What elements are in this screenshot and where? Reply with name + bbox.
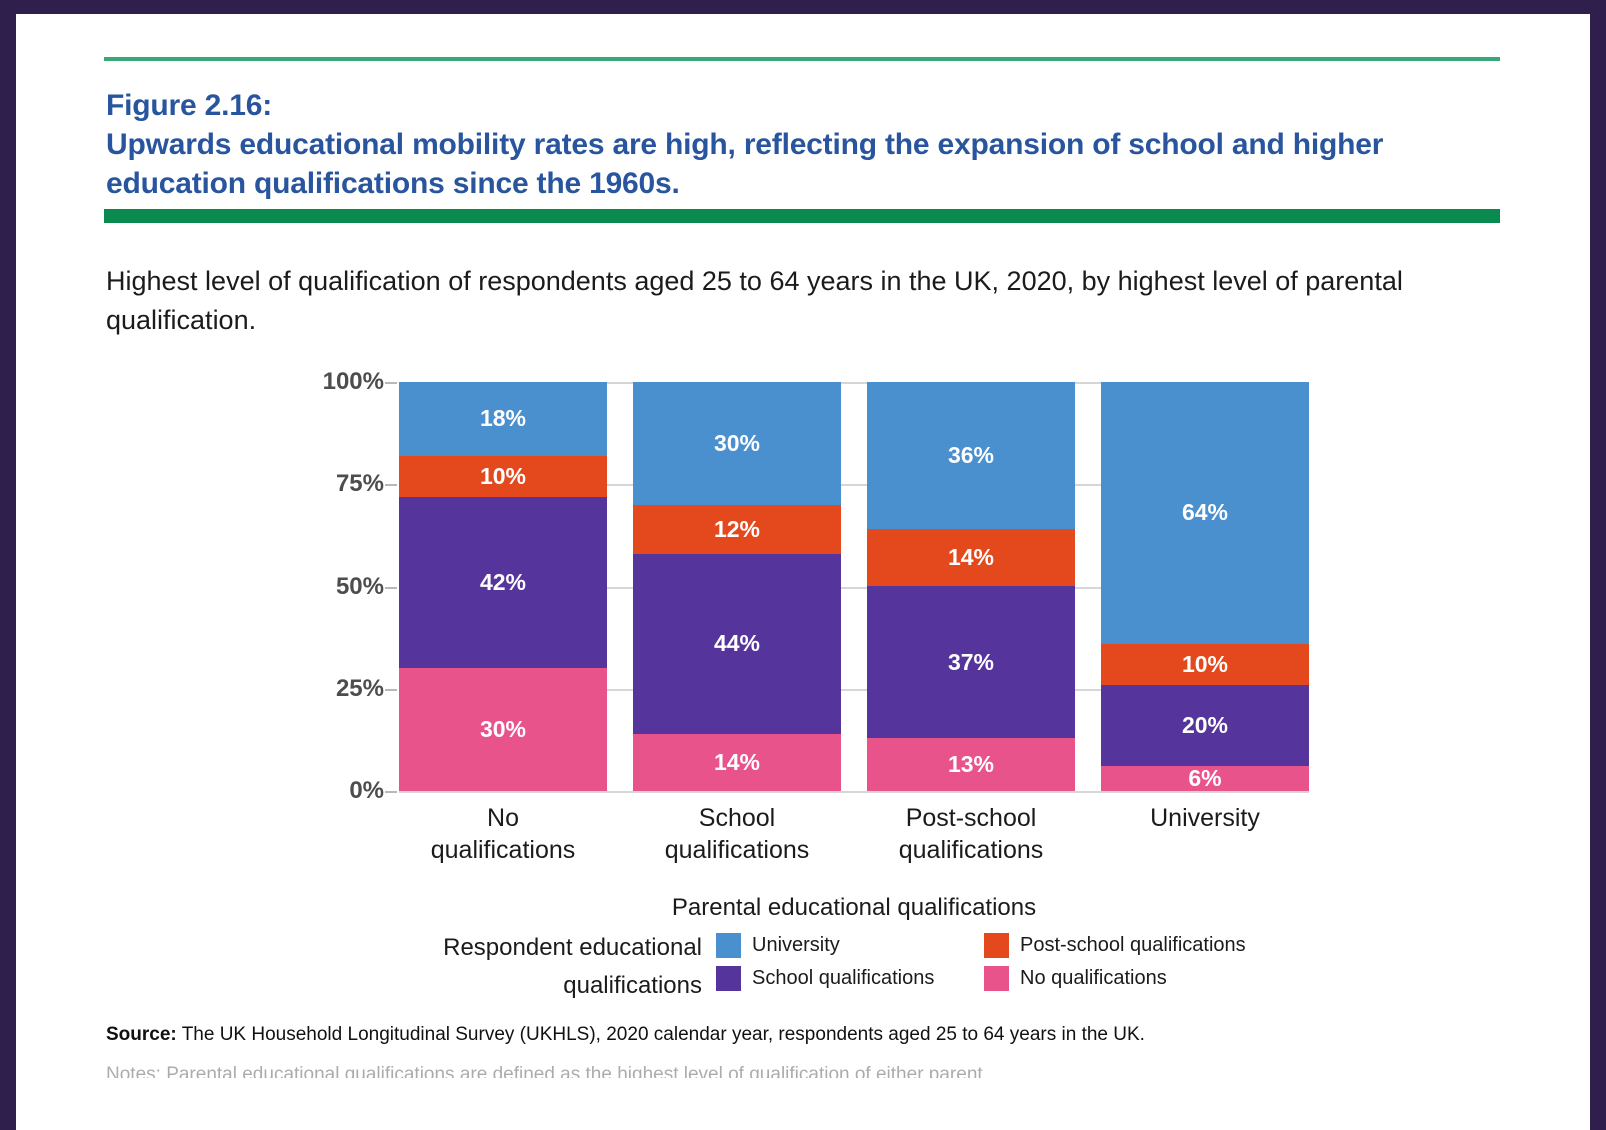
y-axis-tick-label: 50% [274,573,384,601]
y-axis-tick-mark [385,484,397,486]
bar-segment-value-label: 14% [714,749,760,776]
y-axis-tick-mark [385,791,397,793]
bar-segment-value-label: 14% [948,544,994,571]
legend-item[interactable]: Post-school qualifications [984,933,1284,958]
bar-segment-value-label: 64% [1182,499,1228,526]
top-divider-rule [104,57,1500,61]
source-text: The UK Household Longitudinal Survey (UK… [182,1024,1145,1045]
bar-segment[interactable]: 18% [399,382,607,456]
figure-heading: Figure 2.16: Upwards educational mobilit… [106,86,1476,203]
bar-segment-value-label: 37% [948,649,994,676]
legend-item[interactable]: No qualifications [984,966,1284,991]
y-axis-tick-label: 25% [274,675,384,703]
bar-segment-value-label: 10% [480,463,526,490]
x-axis-category-label-line: Post-school [867,802,1075,834]
bar-segment-value-label: 13% [948,751,994,778]
bar-segment[interactable]: 42% [399,497,607,669]
bar-segment[interactable]: 37% [867,586,1075,737]
legend-title: Respondent educational qualifications [426,929,716,1005]
stacked-bar[interactable]: 18%10%42%30% [399,382,607,791]
bar-segment-value-label: 42% [480,569,526,596]
y-axis-tick-mark [385,689,397,691]
bar-segment-value-label: 30% [480,716,526,743]
x-axis-category-label: Schoolqualifications [633,802,841,866]
bar-segment[interactable]: 6% [1101,766,1309,791]
y-axis-tick-label: 75% [274,470,384,498]
source-label: Source: [106,1024,177,1045]
bar-segment[interactable]: 13% [867,738,1075,791]
x-axis-line [399,791,1309,793]
figure-title: Upwards educational mobility rates are h… [106,125,1476,203]
page-sheet: Figure 2.16: Upwards educational mobilit… [16,14,1590,1130]
plot-area: 18%10%42%30%30%12%44%14%36%14%37%13%64%1… [399,382,1309,791]
legend-item[interactable]: School qualifications [716,966,984,991]
bar-segment[interactable]: 14% [867,529,1075,586]
legend-item-label: School qualifications [752,967,934,990]
x-axis-category-label: Noqualifications [399,802,607,866]
heading-underline-rule [104,209,1500,223]
legend-swatch [716,933,741,958]
stacked-bar[interactable]: 36%14%37%13% [867,382,1075,791]
bar-segment[interactable]: 20% [1101,685,1309,767]
legend-item-label: University [752,934,840,957]
bar-segment-value-label: 36% [948,442,994,469]
notes-note-clipped: Notes: Parental educational qualificatio… [106,1064,1486,1078]
legend-item-label: No qualifications [1020,967,1167,990]
bar-segment[interactable]: 14% [633,734,841,791]
y-axis-tick-mark [385,587,397,589]
figure-number: Figure 2.16: [106,86,1476,125]
x-axis-category-label: Post-schoolqualifications [867,802,1075,866]
figure-subtitle: Highest level of qualification of respon… [106,262,1476,340]
x-axis-category-label-line: University [1101,802,1309,834]
bar-segment-value-label: 18% [480,405,526,432]
y-axis: 0%25%50%75%100% [266,382,384,791]
bar-segment-value-label: 10% [1182,651,1228,678]
x-axis-category-label-line: qualifications [399,834,607,866]
source-note: Source: The UK Household Longitudinal Su… [106,1024,1486,1046]
x-axis-category-label-line: qualifications [867,834,1075,866]
x-axis-labels: NoqualificationsSchoolqualificationsPost… [399,802,1309,866]
legend-items: UniversityPost-school qualificationsScho… [716,929,1284,991]
legend-item[interactable]: University [716,933,984,958]
bar-segment-value-label: 12% [714,516,760,543]
bar-segment-value-label: 6% [1188,766,1221,791]
bar-segment-value-label: 20% [1182,712,1228,739]
y-axis-tick-label: 100% [274,368,384,396]
bar-segment[interactable]: 10% [399,456,607,497]
legend-swatch [984,933,1009,958]
bar-segment-value-label: 30% [714,430,760,457]
bar-segment[interactable]: 30% [399,668,607,791]
stacked-bar[interactable]: 30%12%44%14% [633,382,841,791]
bar-segment[interactable]: 44% [633,554,841,734]
bar-segment[interactable]: 64% [1101,382,1309,644]
x-axis-category-label: University [1101,802,1309,866]
legend-swatch [716,966,741,991]
x-axis-title: Parental educational qualifications [399,894,1309,922]
chart: 0%25%50%75%100% 18%10%42%30%30%12%44%14%… [266,366,1366,806]
x-axis-category-label-line: qualifications [633,834,841,866]
legend-swatch [984,966,1009,991]
bar-group: 18%10%42%30%30%12%44%14%36%14%37%13%64%1… [399,382,1309,791]
bar-segment[interactable]: 30% [633,382,841,505]
x-axis-category-label-line: No [399,802,607,834]
bar-segment[interactable]: 36% [867,382,1075,529]
bar-segment[interactable]: 12% [633,505,841,554]
x-axis-category-label-line: School [633,802,841,834]
page-frame: Figure 2.16: Upwards educational mobilit… [0,0,1606,1130]
legend-item-label: Post-school qualifications [1020,934,1246,957]
stacked-bar[interactable]: 64%10%20%6% [1101,382,1309,791]
y-axis-tick-mark [385,382,397,384]
bar-segment[interactable]: 10% [1101,644,1309,685]
bar-segment-value-label: 44% [714,630,760,657]
y-axis-tick-label: 0% [274,777,384,805]
legend: Respondent educational qualifications Un… [426,929,1326,1005]
